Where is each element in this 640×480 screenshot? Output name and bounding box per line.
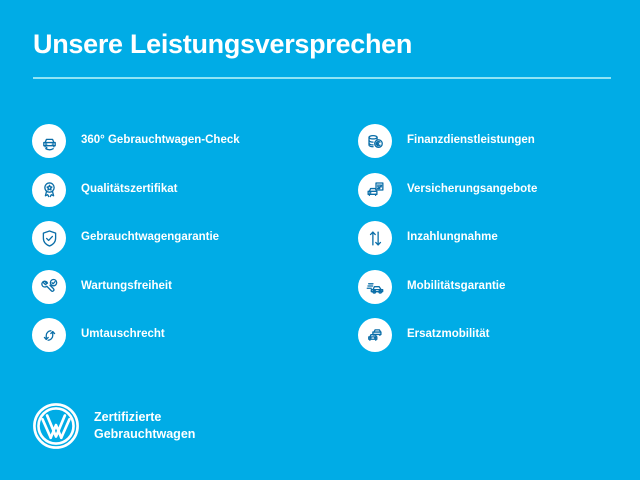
promise-item-gebrauchtwagengarantie[interactable]: Gebrauchtwagengarantie	[32, 221, 332, 255]
promise-item-umtauschrecht[interactable]: Umtauschrecht	[32, 318, 332, 352]
promise-item-gebrauchtwagen-check[interactable]: 360° Gebrauchtwagen-Check	[32, 124, 332, 158]
slide-root: Unsere Leistungsversprechen 360° Gebrauc	[0, 0, 640, 480]
car-360-check-icon	[32, 124, 66, 158]
promise-label: Inzahlungnahme	[407, 231, 498, 245]
two-cars-icon	[358, 318, 392, 352]
shield-check-icon	[32, 221, 66, 255]
promise-label: Gebrauchtwagengarantie	[81, 231, 219, 245]
car-motion-icon	[358, 270, 392, 304]
promise-label: Qualitätszertifikat	[81, 183, 178, 197]
arrows-up-down-icon	[358, 221, 392, 255]
brand-lockup: Zertifizierte Gebrauchtwagen	[32, 402, 195, 450]
award-medal-icon	[32, 173, 66, 207]
wrench-check-icon	[32, 270, 66, 304]
promises-column-right: Finanzdienstleistungen Versicherungsange…	[358, 124, 618, 367]
brand-text: Zertifizierte Gebrauchtwagen	[94, 409, 195, 443]
promise-item-ersatzmobilitaet[interactable]: Ersatzmobilität	[358, 318, 618, 352]
promise-label: Versicherungsangebote	[407, 183, 537, 197]
exchange-arrows-icon	[32, 318, 66, 352]
promises-container: 360° Gebrauchtwagen-Check Qualitätszerti…	[0, 124, 640, 367]
promise-label: Mobilitätsgarantie	[407, 280, 505, 294]
promise-item-qualitaetszertifikat[interactable]: Qualitätszertifikat	[32, 173, 332, 207]
volkswagen-logo	[32, 402, 80, 450]
promise-label: Ersatzmobilität	[407, 328, 489, 342]
promise-item-versicherungsangebote[interactable]: Versicherungsangebote	[358, 173, 618, 207]
promises-column-left: 360° Gebrauchtwagen-Check Qualitätszerti…	[32, 124, 332, 367]
promise-label: 360° Gebrauchtwagen-Check	[81, 134, 240, 148]
promise-label: Wartungsfreiheit	[81, 280, 172, 294]
promise-item-inzahlungnahme[interactable]: Inzahlungnahme	[358, 221, 618, 255]
page-title: Unsere Leistungsversprechen	[33, 30, 611, 60]
promise-item-finanzdienstleistungen[interactable]: Finanzdienstleistungen	[358, 124, 618, 158]
brand-text-line2: Gebrauchtwagen	[94, 426, 195, 443]
car-document-check-icon	[358, 173, 392, 207]
promise-label: Umtauschrecht	[81, 328, 165, 342]
promise-label: Finanzdienstleistungen	[407, 134, 535, 148]
header: Unsere Leistungsversprechen	[33, 30, 611, 79]
brand-text-line1: Zertifizierte	[94, 409, 195, 426]
promise-item-wartungsfreiheit[interactable]: Wartungsfreiheit	[32, 270, 332, 304]
coins-euro-icon	[358, 124, 392, 158]
promise-item-mobilitaetsgarantie[interactable]: Mobilitätsgarantie	[358, 270, 618, 304]
title-divider	[33, 77, 611, 79]
